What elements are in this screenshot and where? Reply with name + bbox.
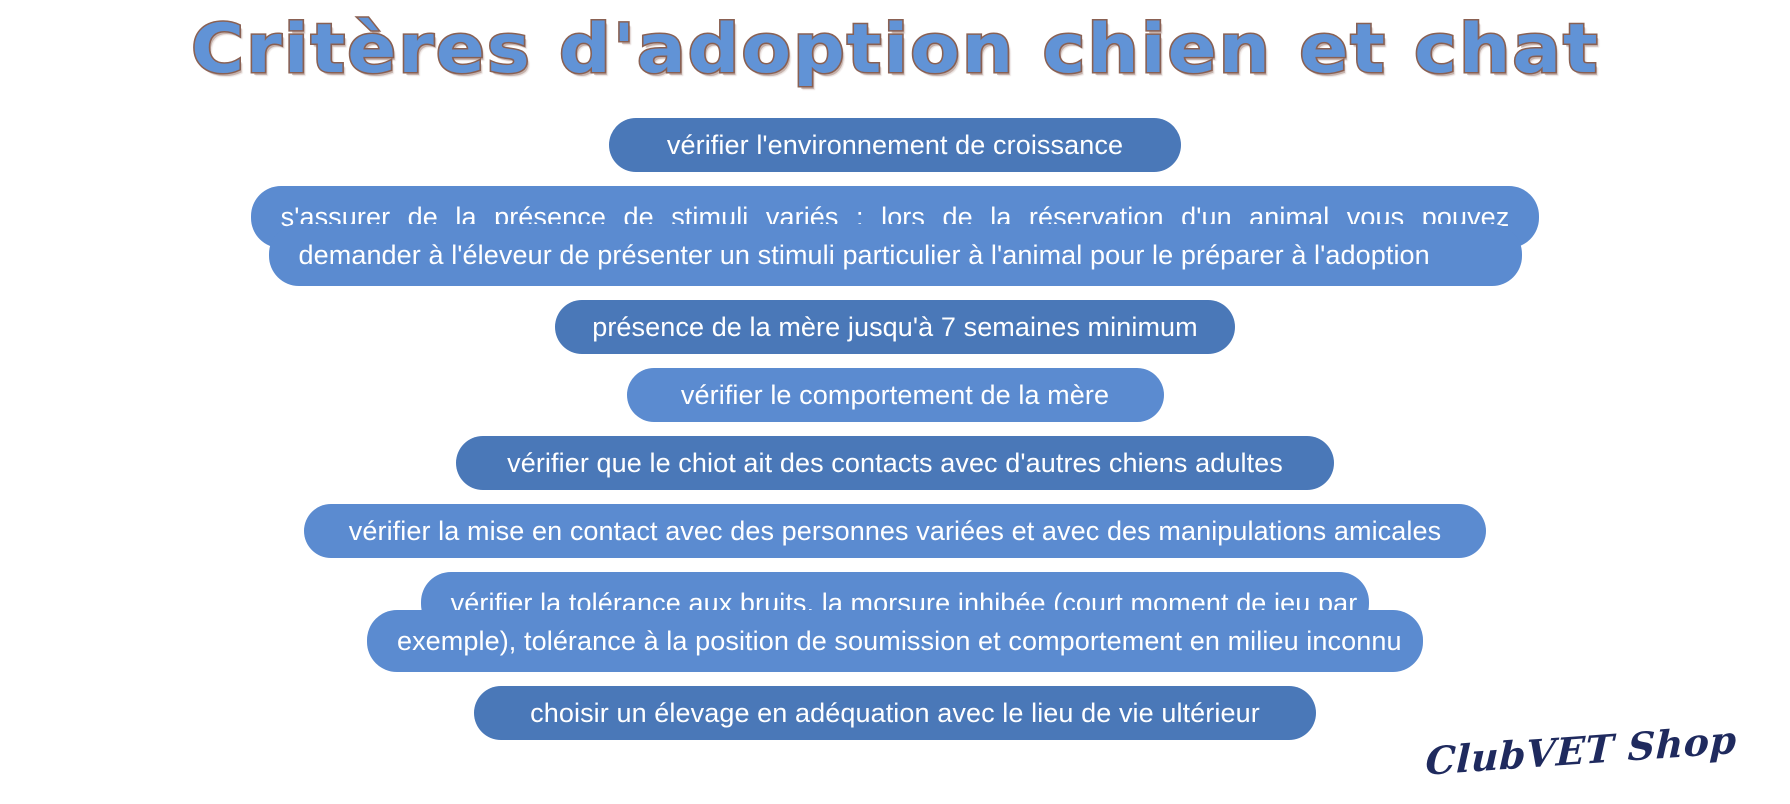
criteria-pill: exemple), tolérance à la position de sou… bbox=[367, 610, 1423, 672]
criteria-row: vérifier que le chiot ait des contacts a… bbox=[0, 436, 1790, 490]
poster-canvas: Critères d'adoption chien et chat vérifi… bbox=[0, 0, 1790, 804]
criteria-pill: vérifier la mise en contact avec des per… bbox=[304, 504, 1485, 558]
criteria-pill: vérifier le comportement de la mère bbox=[627, 368, 1164, 422]
criteria-list: vérifier l'environnement de croissances'… bbox=[0, 118, 1790, 754]
criteria-pill: présence de la mère jusqu'à 7 semaines m… bbox=[555, 300, 1235, 354]
page-title: Critères d'adoption chien et chat bbox=[191, 14, 1600, 85]
criteria-pill: demander à l'éleveur de présenter un sti… bbox=[269, 224, 1522, 286]
criteria-row: vérifier l'environnement de croissance bbox=[0, 118, 1790, 172]
criteria-pill: vérifier que le chiot ait des contacts a… bbox=[456, 436, 1333, 490]
criteria-row: présence de la mère jusqu'à 7 semaines m… bbox=[0, 300, 1790, 354]
criteria-row: vérifier le comportement de la mère bbox=[0, 368, 1790, 422]
criteria-row: vérifier la tolérance aux bruits, la mor… bbox=[0, 572, 1790, 672]
criteria-pill: vérifier l'environnement de croissance bbox=[609, 118, 1182, 172]
criteria-row: s'assurer de la présence de stimuli vari… bbox=[0, 186, 1790, 286]
criteria-pill: choisir un élevage en adéquation avec le… bbox=[474, 686, 1315, 740]
title-container: Critères d'adoption chien et chat bbox=[0, 14, 1790, 85]
criteria-row: vérifier la mise en contact avec des per… bbox=[0, 504, 1790, 558]
